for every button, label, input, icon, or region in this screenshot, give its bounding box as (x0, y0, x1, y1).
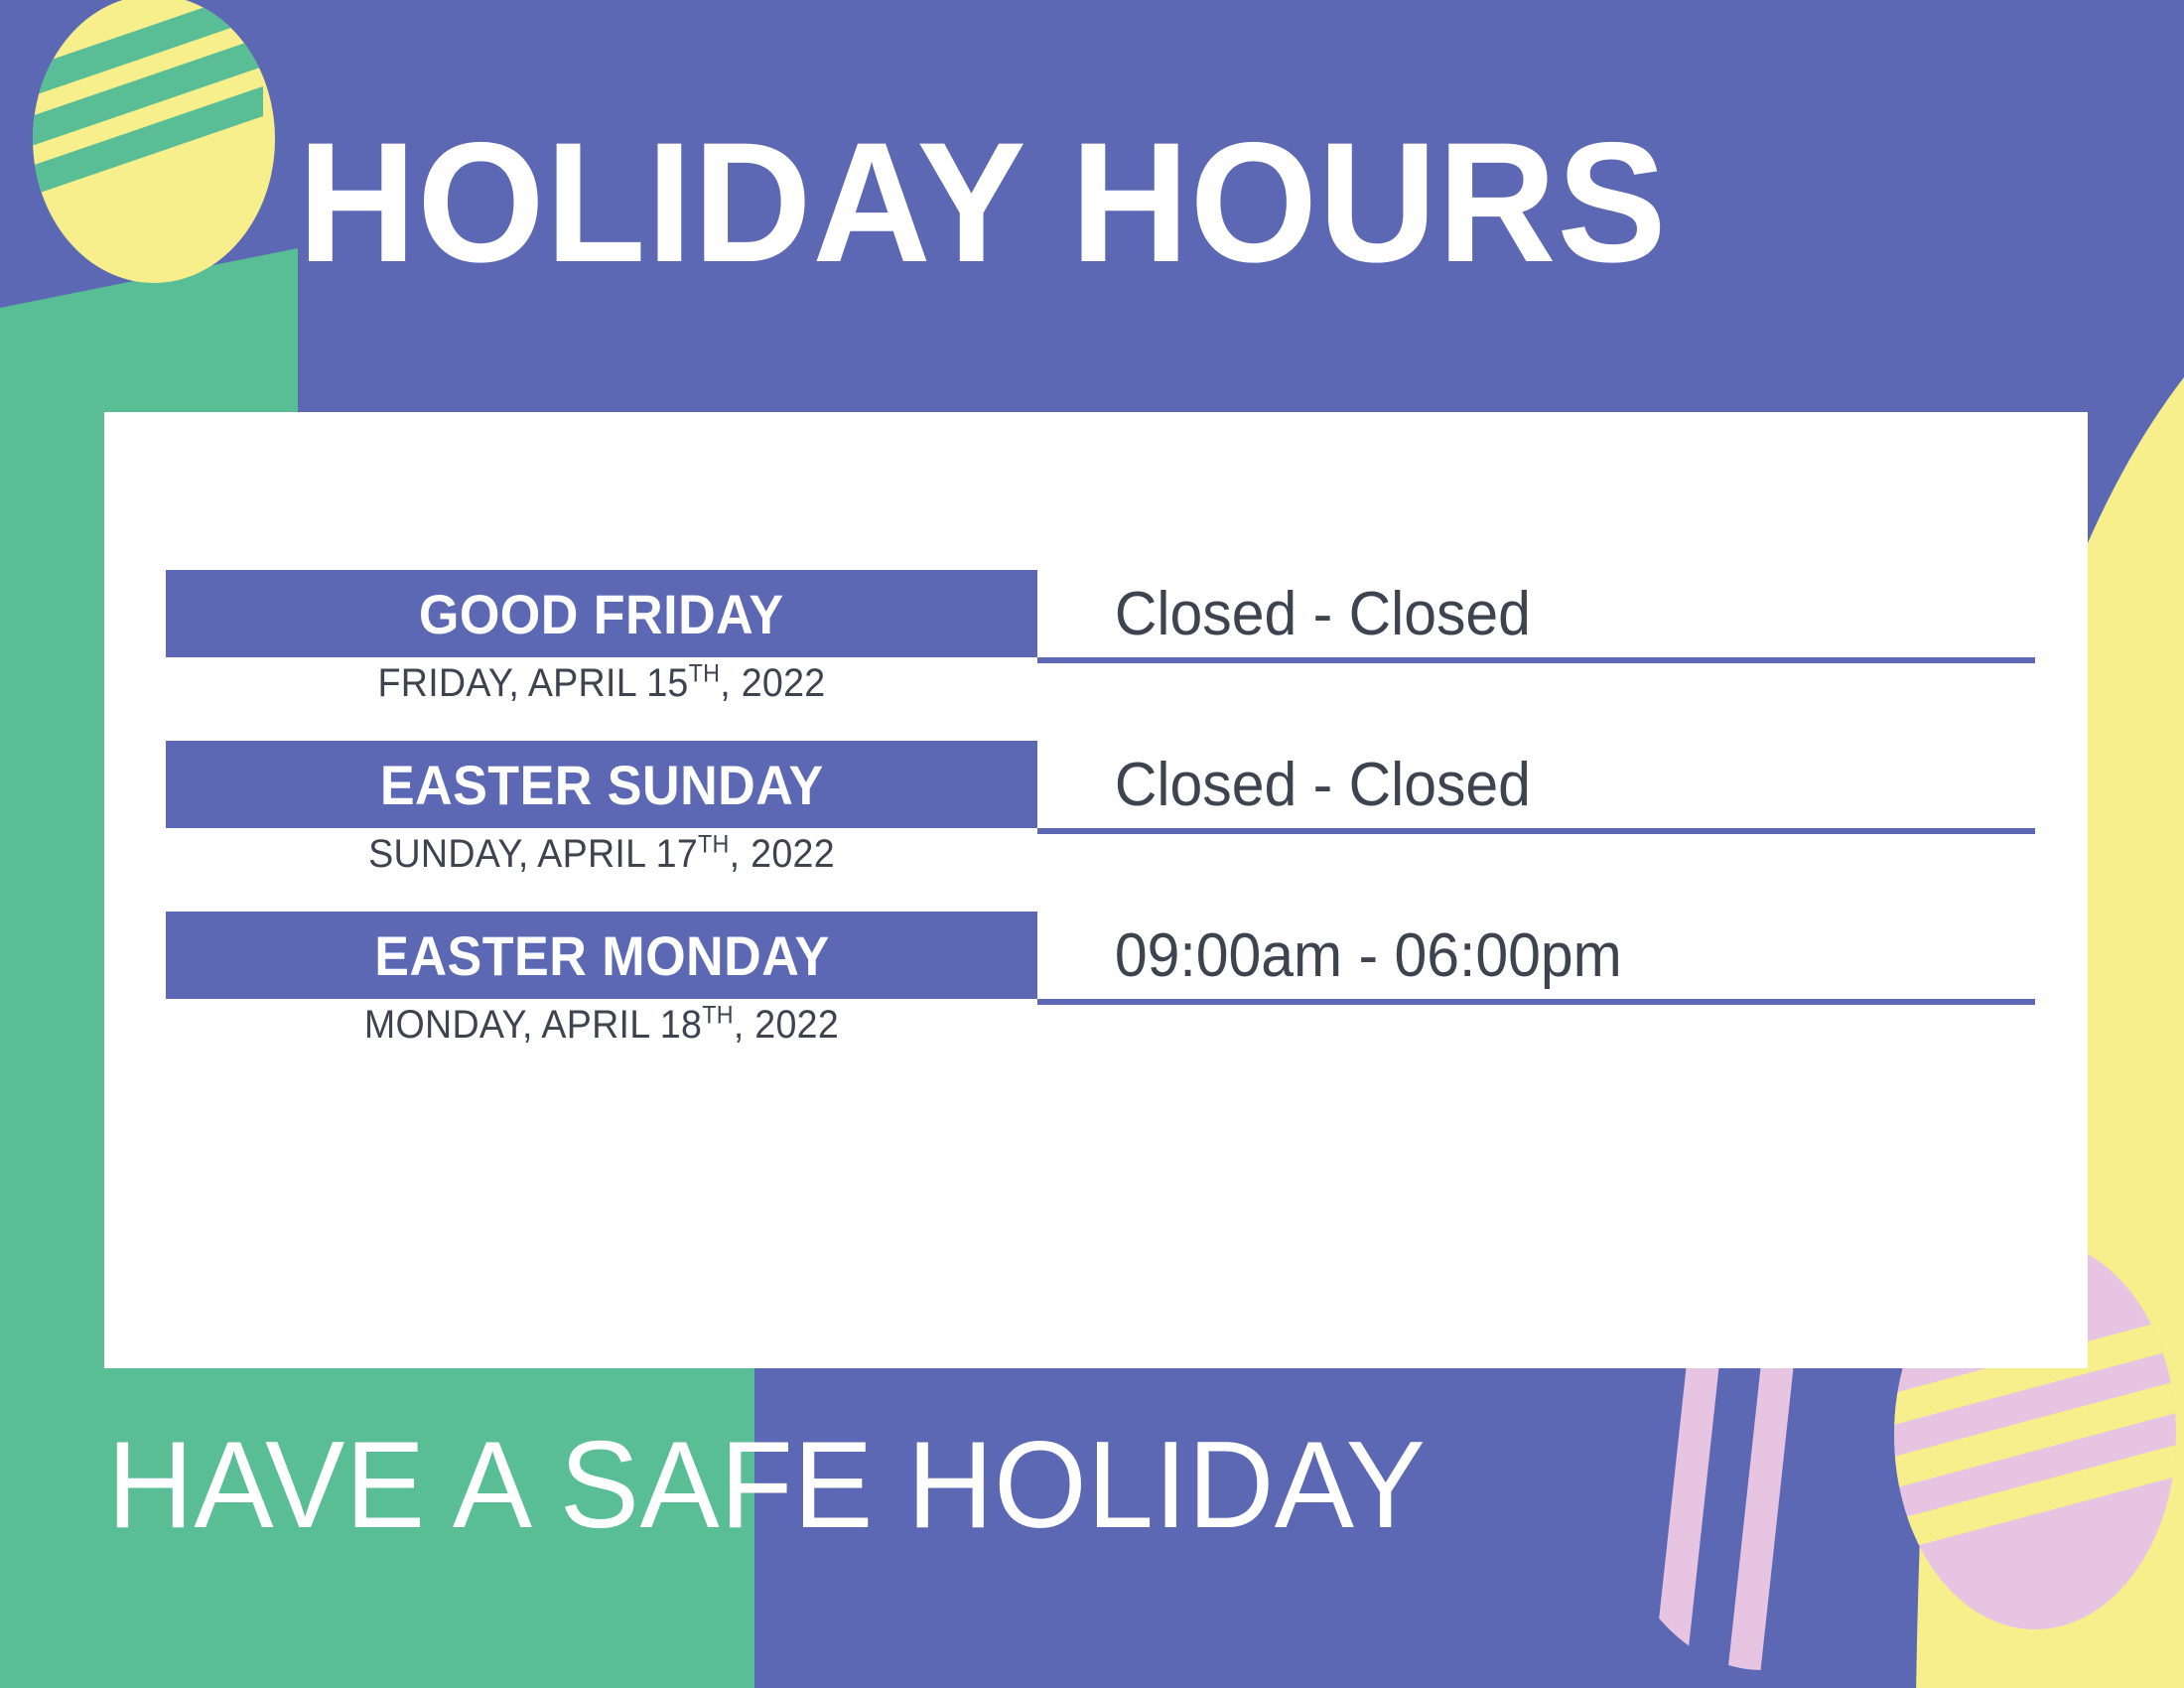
table-row: EASTER MONDAY 09:00am - 06:00pm MONDAY, … (166, 912, 2088, 999)
page-title: HOLIDAY HOURS (298, 117, 1668, 288)
holiday-hours-poster: HOLIDAY HOURS GOOD FRIDAY Closed - Close… (0, 0, 2184, 1688)
easter-egg-icon (25, 0, 283, 283)
holiday-hours-cell: Closed - Closed (1037, 570, 2035, 663)
table-row: GOOD FRIDAY Closed - Closed FRIDAY, APRI… (166, 570, 2088, 657)
holiday-name-bar: EASTER MONDAY (166, 912, 1037, 999)
schedule-card: GOOD FRIDAY Closed - Closed FRIDAY, APRI… (104, 412, 2088, 1368)
holiday-hours: Closed - Closed (1037, 579, 1531, 649)
holiday-hours: Closed - Closed (1037, 750, 1531, 820)
holiday-date: MONDAY, APRIL 18TH, 2022 (192, 1003, 1011, 1048)
schedule-rows: GOOD FRIDAY Closed - Closed FRIDAY, APRI… (104, 412, 2088, 1368)
holiday-date-ordinal: TH (702, 1003, 734, 1030)
holiday-name: GOOD FRIDAY (419, 582, 784, 646)
holiday-date-prefix: MONDAY, APRIL 18 (364, 1003, 702, 1047)
holiday-date: FRIDAY, APRIL 15TH, 2022 (192, 661, 1011, 706)
holiday-date-ordinal: TH (698, 832, 730, 859)
holiday-date-suffix: , 2022 (734, 1003, 839, 1047)
holiday-date-suffix: , 2022 (720, 661, 825, 705)
holiday-date: SUNDAY, APRIL 17TH, 2022 (192, 832, 1011, 877)
holiday-name-bar: GOOD FRIDAY (166, 570, 1037, 657)
footer-message: HAVE A SAFE HOLIDAY (107, 1424, 1426, 1547)
row-main: GOOD FRIDAY Closed - Closed (166, 570, 2088, 657)
row-main: EASTER MONDAY 09:00am - 06:00pm (166, 912, 2088, 999)
holiday-name: EASTER SUNDAY (380, 753, 824, 817)
table-row: EASTER SUNDAY Closed - Closed SUNDAY, AP… (166, 741, 2088, 828)
holiday-hours: 09:00am - 06:00pm (1037, 920, 1622, 991)
holiday-name-bar: EASTER SUNDAY (166, 741, 1037, 828)
holiday-name: EASTER MONDAY (374, 923, 829, 988)
holiday-hours-cell: 09:00am - 06:00pm (1037, 912, 2035, 1005)
holiday-date-prefix: FRIDAY, APRIL 15 (378, 661, 689, 705)
holiday-date-suffix: , 2022 (730, 832, 835, 876)
holiday-date-ordinal: TH (689, 661, 721, 688)
row-main: EASTER SUNDAY Closed - Closed (166, 741, 2088, 828)
holiday-date-prefix: SUNDAY, APRIL 17 (368, 832, 698, 876)
holiday-hours-cell: Closed - Closed (1037, 741, 2035, 834)
